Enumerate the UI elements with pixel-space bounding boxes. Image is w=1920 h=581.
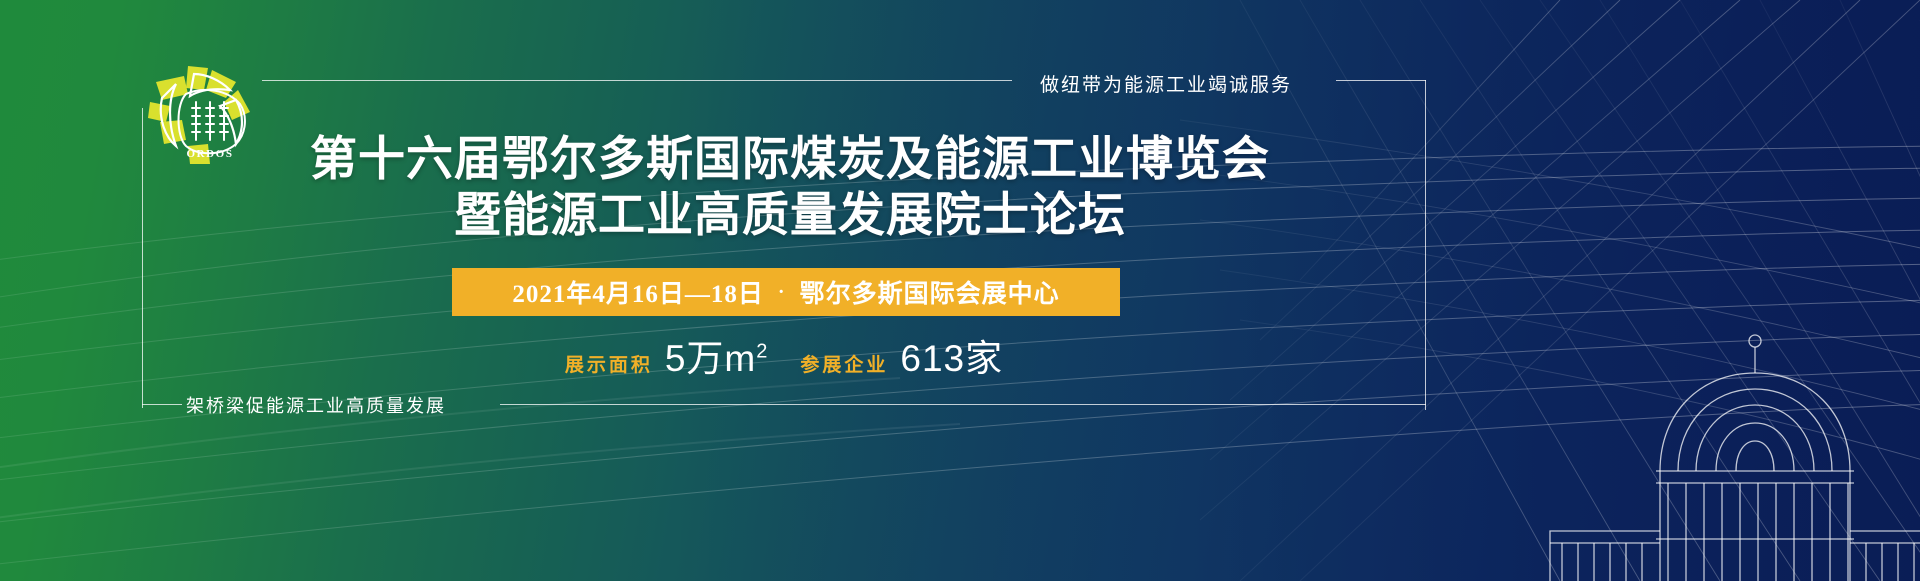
event-date: 2021年4月16日—18日 — [512, 274, 764, 310]
stat-number-exhibitors: 613家 — [900, 338, 1003, 379]
stat-label-exhibitors: 参展企业 — [800, 350, 888, 382]
stat-exhibition-area: 展示面积 5万m2 — [565, 339, 773, 382]
date-venue-bar: 2021年4月16日—18日 · 鄂尔多斯国际会展中心 — [452, 268, 1120, 316]
stat-value-exhibitors: 613家 — [896, 339, 1007, 382]
tagline-top-right: 做纽带为能源工业竭诚服务 — [1040, 70, 1292, 97]
frame-rule-right — [1425, 80, 1426, 410]
tagline-bottom-left: 架桥梁促能源工业高质量发展 — [186, 392, 446, 418]
frame-rule-top-left — [262, 80, 1012, 81]
frame-rule-bottom-left — [142, 404, 182, 405]
event-venue: 鄂尔多斯国际会展中心 — [800, 274, 1060, 310]
event-title-line1: 第十六届鄂尔多斯国际煤炭及能源工业博览会 — [0, 132, 1580, 188]
stat-label-area: 展示面积 — [565, 350, 653, 382]
convention-center-dome-illustration — [1360, 281, 1920, 581]
event-stats: 展示面积 5万m2 参展企业 613家 — [452, 330, 1120, 382]
exhibition-banner: ORDOS 做纽带为能源工业竭诚服务 架桥梁促能源工业高质量发展 第十六届鄂尔多… — [0, 0, 1920, 581]
date-venue-separator: · — [764, 281, 800, 304]
frame-rule-top-right — [1336, 80, 1426, 81]
frame-rule-bottom — [500, 404, 1426, 405]
stat-number-area: 5万m — [665, 338, 756, 379]
stat-value-area: 5万m2 — [661, 339, 773, 382]
stat-exhibitor-count: 参展企业 613家 — [800, 339, 1007, 382]
stat-superscript-area: 2 — [756, 341, 768, 363]
event-title-line2: 暨能源工业高质量发展院士论坛 — [0, 188, 1580, 244]
event-title: 第十六届鄂尔多斯国际煤炭及能源工业博览会 暨能源工业高质量发展院士论坛 — [0, 132, 1580, 244]
